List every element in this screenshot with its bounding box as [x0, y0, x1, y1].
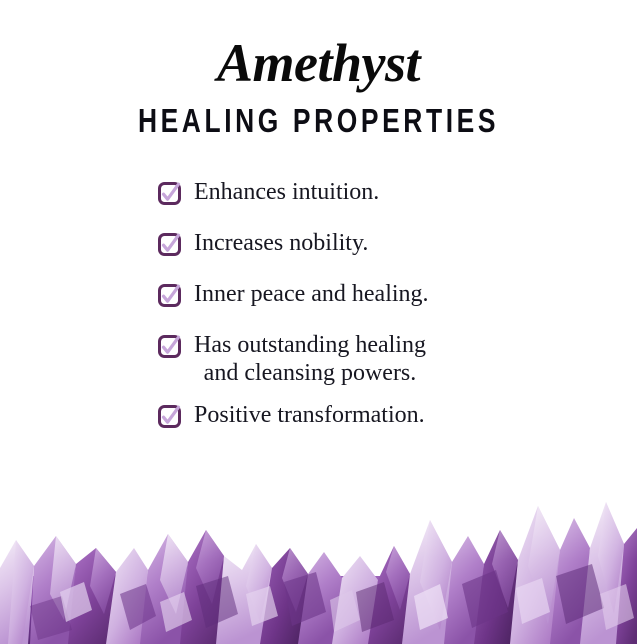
healing-properties-list: Enhances intuition. Increases nobility. …: [0, 178, 637, 431]
poster-header: Amethyst HEALING PROPERTIES: [0, 0, 637, 137]
list-item: Enhances intuition.: [0, 178, 637, 208]
amethyst-poster: Amethyst HEALING PROPERTIES Enhances int…: [0, 0, 637, 644]
page-title: Amethyst: [0, 0, 637, 90]
list-item: Increases nobility.: [0, 229, 637, 259]
page-subtitle: HEALING PROPERTIES: [64, 90, 574, 137]
list-item: Positive transformation.: [0, 401, 637, 431]
checkbox-checked-icon[interactable]: [158, 233, 181, 256]
list-item-label: Increases nobility.: [194, 229, 368, 258]
list-item-label: Inner peace and healing.: [194, 280, 429, 309]
checkbox-checked-icon[interactable]: [158, 284, 181, 307]
checkbox-checked-icon[interactable]: [158, 405, 181, 428]
list-item-label: Enhances intuition.: [194, 178, 379, 207]
amethyst-crystal-cluster-image: [0, 444, 637, 644]
checkbox-checked-icon[interactable]: [158, 182, 181, 205]
list-item: Has outstanding healing and cleansing po…: [0, 331, 637, 387]
list-item: Inner peace and healing.: [0, 280, 637, 310]
list-item-label: Has outstanding healing and cleansing po…: [194, 331, 426, 387]
list-item-label: Positive transformation.: [194, 401, 425, 430]
checkbox-checked-icon[interactable]: [158, 335, 181, 358]
